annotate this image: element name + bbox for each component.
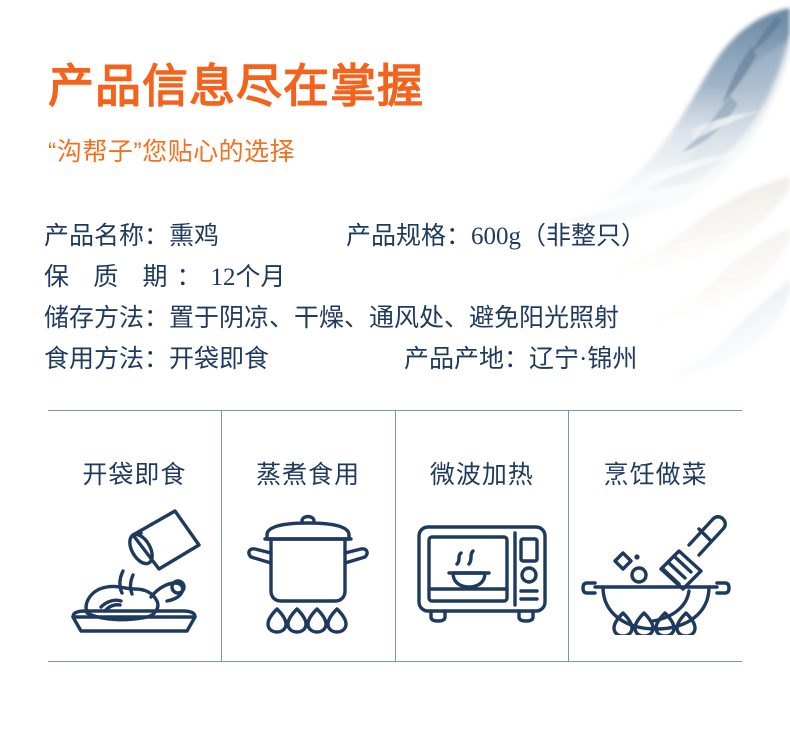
spec-value: 12个月 bbox=[211, 264, 286, 291]
spec-label: 食用方法： bbox=[44, 346, 169, 373]
page-subtitle: “沟帮子”您贴心的选择 bbox=[48, 132, 424, 168]
spec-cell-name: 产品名称：熏鸡 bbox=[44, 216, 219, 257]
spec-row: 保 质 期：12个月 bbox=[44, 257, 744, 298]
spec-value: 开袋即食 bbox=[169, 346, 269, 373]
wok-spatula-flames-icon bbox=[581, 505, 731, 635]
page-title: 产品信息尽在掌握 bbox=[48, 62, 424, 110]
spec-label: 产品名称： bbox=[44, 223, 169, 250]
usage-cell-cooking: 烹饪做菜 bbox=[568, 411, 742, 661]
spec-value: 熏鸡 bbox=[169, 223, 219, 250]
usage-label: 烹饪做菜 bbox=[604, 455, 708, 491]
spec-cell-shelf-life: 保 质 期：12个月 bbox=[44, 257, 286, 298]
pot-with-flames-icon bbox=[233, 505, 383, 635]
spec-label: 产品产地： bbox=[404, 346, 529, 373]
spec-row: 产品名称：熏鸡 产品规格：600g（非整只） bbox=[44, 216, 744, 257]
usage-methods-grid: 开袋即食 bbox=[48, 410, 742, 662]
spec-label: 储存方法： bbox=[44, 305, 169, 332]
header: 产品信息尽在掌握 “沟帮子”您贴心的选择 bbox=[48, 62, 424, 168]
spec-value: 辽宁·锦州 bbox=[529, 346, 637, 373]
spec-cell-origin: 产品产地：辽宁·锦州 bbox=[404, 339, 637, 380]
pouch-chicken-plate-icon bbox=[59, 505, 209, 635]
spec-cell-serving: 食用方法：开袋即食 bbox=[44, 339, 269, 380]
spec-value: 600g（非整只） bbox=[471, 223, 646, 250]
usage-cell-microwave: 微波加热 bbox=[395, 411, 569, 661]
product-spec-list: 产品名称：熏鸡 产品规格：600g（非整只） 保 质 期：12个月 储存方法：置… bbox=[44, 216, 744, 380]
spec-cell-storage: 储存方法：置于阴凉、干燥、通风处、避免阳光照射 bbox=[44, 298, 619, 339]
usage-cell-ready-to-eat: 开袋即食 bbox=[48, 411, 221, 661]
usage-label: 蒸煮食用 bbox=[256, 455, 360, 491]
spec-row: 储存方法：置于阴凉、干燥、通风处、避免阳光照射 bbox=[44, 298, 744, 339]
usage-cell-steam-boil: 蒸煮食用 bbox=[221, 411, 395, 661]
spec-label: 保 质 期： bbox=[44, 264, 211, 291]
spec-label: 产品规格： bbox=[346, 223, 471, 250]
spec-row: 食用方法：开袋即食 产品产地：辽宁·锦州 bbox=[44, 339, 744, 380]
microwave-icon bbox=[407, 505, 557, 635]
usage-label: 开袋即食 bbox=[82, 455, 186, 491]
usage-label: 微波加热 bbox=[430, 455, 534, 491]
spec-cell-spec: 产品规格：600g（非整只） bbox=[346, 216, 646, 257]
spec-value: 置于阴凉、干燥、通风处、避免阳光照射 bbox=[169, 305, 619, 332]
